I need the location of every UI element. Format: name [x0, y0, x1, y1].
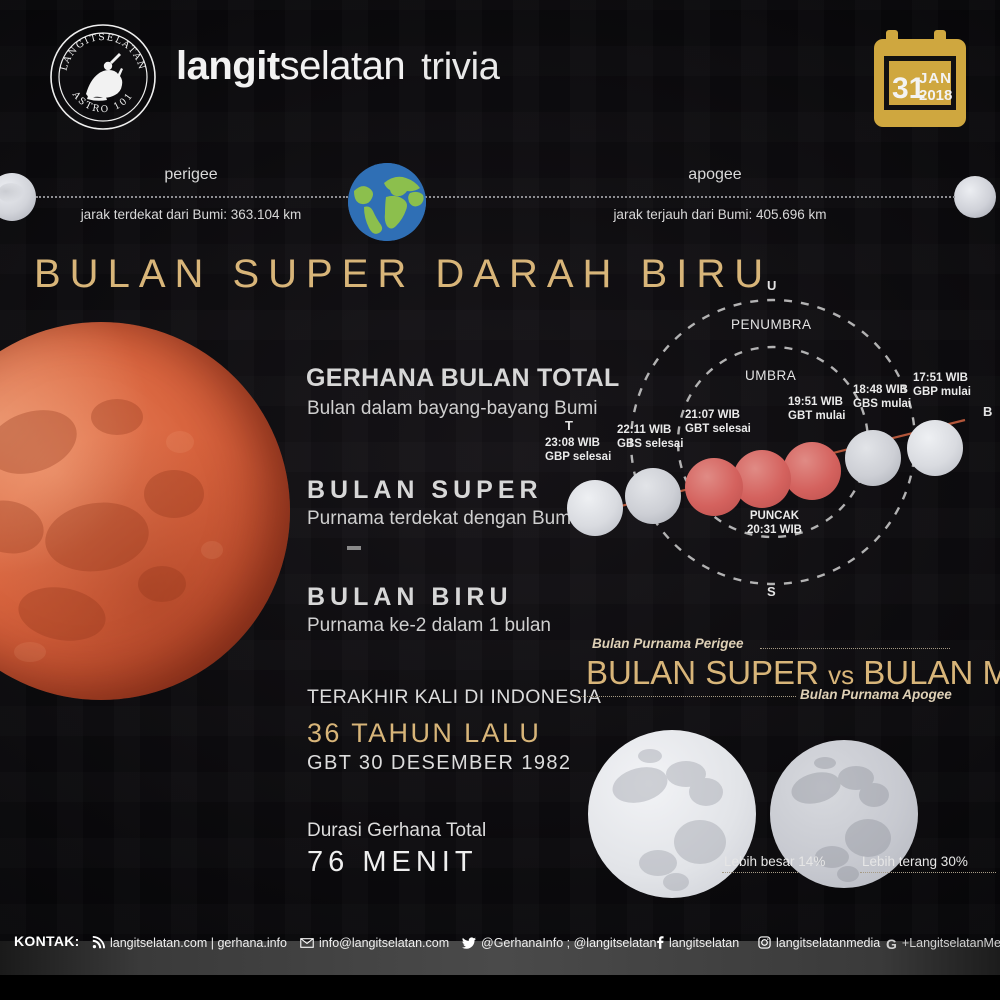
comparison-title-right: BULAN MINI [863, 654, 1000, 691]
phase-moon-gbp-mulai [907, 420, 963, 476]
comparison-dashline-bottom [576, 696, 796, 697]
contact-item-email[interactable]: info@langitselatan.com [300, 936, 449, 952]
phase-event: GBS selesai [617, 438, 683, 450]
fact-sub-2: Purnama terdekat dengan Bumi [307, 508, 575, 530]
phase-event: GBT selesai [685, 423, 751, 435]
envelope-icon [300, 937, 314, 952]
langitselatan-logo-icon: LANGITSELATAN ASTRO 101 [48, 22, 158, 132]
apogee-dotted-line [425, 196, 955, 198]
phase-event: GBP mulai [913, 386, 971, 398]
caption-lebih-besar: Lebih besar 14% [724, 854, 825, 869]
phase-moon-gbp-selesai [567, 480, 623, 536]
phase-event: GBP selesai [545, 451, 611, 463]
brand-wordmark: langitselatantrivia [176, 44, 500, 89]
last-time-value: 36 TAHUN LALU [307, 718, 541, 749]
caption-dashline-right [860, 872, 996, 873]
instagram-icon [758, 936, 771, 952]
peak-label: PUNCAK 20:31 WIB [747, 510, 802, 537]
phase-event: GBT mulai [788, 410, 846, 422]
duration-label: Durasi Gerhana Total [307, 820, 486, 842]
apogee-moon-icon [954, 176, 996, 218]
brand-light: selatan [280, 44, 405, 88]
contact-text: langitselatan.com | gerhana.info [110, 936, 287, 950]
contact-text: @GerhanaInfo ; @langitselatan [481, 936, 656, 950]
twitter-icon [462, 937, 476, 952]
phase-moon-gbs-selesai [625, 468, 681, 524]
divider-dash [347, 546, 361, 550]
calendar-year: 2018 [919, 87, 952, 104]
phase-label-gbp-mulai: 17:51 WIB GBP mulai [913, 372, 971, 399]
rss-icon [92, 936, 105, 952]
phase-time: 18:48 WIB [853, 384, 908, 396]
duration-value: 76 MENIT [307, 846, 478, 879]
phase-time: 23:08 WIB [545, 437, 600, 449]
perigee-title: perigee [96, 166, 286, 184]
diagram-axis-east: B [983, 404, 993, 419]
caption-dashline-left [722, 872, 798, 873]
eclipse-path-diagram: U S T B PENUMBRA UMBRA 23:08 WIB GBP sel… [545, 272, 1000, 612]
last-time-detail: GBT 30 DESEMBER 1982 [307, 752, 571, 775]
phase-label-gbt-selesai: 21:07 WIB GBT selesai [685, 409, 751, 436]
apogee-subtitle: jarak terjauh dari Bumi: 405.696 km [580, 207, 860, 222]
footer-bottom-strip [0, 975, 1000, 1000]
perigee-dotted-line [36, 196, 348, 198]
phase-time: 19:51 WIB [788, 396, 843, 408]
contact-text: langitselatan [669, 936, 739, 950]
perigee-subtitle: jarak terdekat dari Bumi: 363.104 km [56, 207, 326, 222]
umbra-label: UMBRA [745, 368, 796, 383]
brand-bold: langit [176, 44, 280, 88]
penumbra-label: PENUMBRA [731, 317, 812, 332]
contact-item-twitter[interactable]: @GerhanaInfo ; @langitselatan [462, 936, 656, 952]
contact-text: +LangitselatanMedia [902, 936, 1000, 950]
phase-label-gbp-selesai: 23:08 WIB GBP selesai [545, 437, 611, 464]
phase-time: 17:51 WIB [913, 372, 968, 384]
phase-moon-gbt-mulai [783, 442, 841, 500]
comparison-title-left: BULAN SUPER [586, 654, 819, 691]
diagram-axis-south: S [767, 584, 776, 599]
fact-sub-3: Purnama ke-2 dalam 1 bulan [307, 615, 551, 637]
phase-event: GBS mulai [853, 398, 911, 410]
distance-band: perigee jarak terdekat dari Bumi: 363.10… [0, 150, 1000, 242]
phase-label-gbt-mulai: 19:51 WIB GBT mulai [788, 396, 846, 423]
super-vs-mini-section: Bulan Purnama Perigee BULAN SUPER vs BUL… [560, 632, 1000, 902]
contact-item-facebook[interactable]: langitselatan [656, 936, 739, 952]
phase-time: 22:11 WIB [617, 424, 671, 436]
contact-label: KONTAK: [14, 933, 80, 949]
contact-item-website[interactable]: langitselatan.com | gerhana.info [92, 936, 287, 952]
caption-lebih-terang: Lebih terang 30% [862, 854, 968, 869]
apogee-title: apogee [620, 166, 810, 184]
contact-text: langitselatanmedia [776, 936, 880, 950]
phase-moon-gbs-mulai [845, 430, 901, 486]
contact-item-googleplus[interactable]: G+LangitselatanMedia [886, 936, 1000, 952]
facebook-icon [656, 936, 664, 952]
brand-section: trivia [421, 46, 499, 88]
calendar-icon: 31 JAN 2018 [872, 30, 968, 130]
svg-text:LANGITSELATAN: LANGITSELATAN [59, 32, 148, 72]
diagram-axis-north: U [767, 278, 777, 293]
comparison-title-vs: vs [828, 660, 854, 690]
last-time-label: TERAKHIR KALI DI INDONESIA [307, 686, 601, 709]
phase-moon-gbt-selesai [685, 458, 743, 516]
diagram-axis-west: T [565, 418, 573, 433]
fact-heading-2: BULAN SUPER [307, 476, 543, 505]
peak-time: 20:31 WIB [747, 524, 802, 536]
googleplus-icon: G [886, 936, 897, 952]
phase-label-gbs-mulai: 18:48 WIB GBS mulai [853, 384, 911, 411]
contact-text: info@langitselatan.com [319, 936, 449, 950]
comparison-note-top: Bulan Purnama Perigee [592, 636, 744, 651]
phase-time: 21:07 WIB [685, 409, 740, 421]
phase-label-gbs-selesai: 22:11 WIB GBS selesai [617, 424, 683, 451]
comparison-dashline-top [760, 648, 950, 649]
comparison-note-bottom: Bulan Purnama Apogee [800, 687, 952, 702]
peak-text: PUNCAK [750, 510, 799, 522]
earth-globe-icon [348, 163, 426, 241]
calendar-month: JAN [919, 70, 952, 87]
contact-item-instagram[interactable]: langitselatanmedia [758, 936, 880, 952]
blood-moon-image [0, 322, 290, 700]
fact-heading-3: BULAN BIRU [307, 583, 513, 612]
